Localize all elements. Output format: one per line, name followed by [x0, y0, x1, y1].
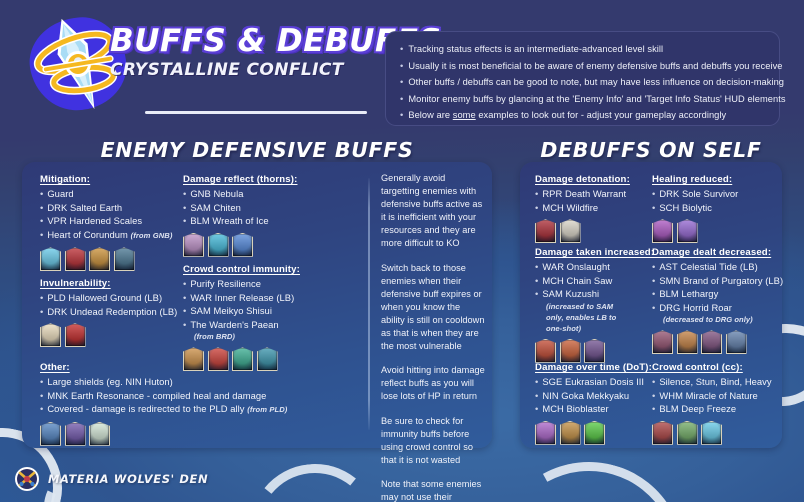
- list-item: Covered - damage is redirected to the PL…: [40, 402, 287, 417]
- group-cc-immunity: Crowd control immunity: Purify Resilienc…: [183, 264, 300, 371]
- ability-icon: [183, 347, 204, 371]
- item-text: DRG Horrid Roar: [659, 302, 732, 313]
- ability-icon: [65, 323, 86, 347]
- list-item: DRK Sole Survivor: [652, 187, 738, 201]
- list-item: Silence, Stun, Bind, Heavy: [652, 375, 772, 389]
- group-list: DRK Sole Survivor SCH Biolytic: [652, 187, 738, 214]
- group-other: Other: Large shields (eg. NIN Huton) MNK…: [40, 362, 287, 446]
- group-list: PLD Hallowed Ground (LB) DRK Undead Rede…: [40, 291, 177, 318]
- ability-icon: [40, 422, 61, 446]
- ability-icon: [560, 421, 581, 445]
- list-item: BLM Deep Freeze: [652, 402, 772, 416]
- ability-icon: [652, 421, 673, 445]
- ability-icon-row: [40, 422, 287, 446]
- item-note: (from PLD): [247, 405, 287, 414]
- intro-notes-box: Tracking status effects is an intermedia…: [385, 31, 780, 126]
- note-emphasis: some: [453, 110, 476, 120]
- item-text: SGE Eukrasian Dosis III: [542, 376, 644, 387]
- ability-icon: [183, 233, 204, 257]
- ability-icon-row: [40, 323, 177, 347]
- list-item: MCH Bioblaster: [535, 402, 652, 416]
- ability-icon: [584, 339, 605, 363]
- item-text: DRK Salted Earth: [47, 202, 122, 213]
- item-text: Large shields (eg. NIN Huton): [47, 376, 172, 387]
- item-text: Guard: [47, 188, 73, 199]
- ability-icon-row: [535, 219, 630, 243]
- item-text: BLM Wreath of Ice: [190, 215, 268, 226]
- list-item: BLM Wreath of Ice: [183, 214, 297, 228]
- list-item: DRG Horrid Roar: [652, 301, 783, 315]
- item-text: WAR Inner Release (LB): [190, 292, 294, 303]
- list-item: SAM Kuzushi: [535, 287, 654, 301]
- infographic-canvas: BUFFS & DEBUFFS CRYSTALLINE CONFLICT Tra…: [0, 0, 804, 502]
- ability-icon-row: [652, 421, 772, 445]
- list-item: BLM Lethargy: [652, 287, 783, 301]
- footer-watermark: MATERIA WOLVES' DEN: [14, 466, 208, 492]
- item-text: WHM Miracle of Nature: [659, 390, 757, 401]
- ability-icon: [232, 347, 253, 371]
- list-item: SGE Eukrasian Dosis III: [535, 375, 652, 389]
- list-item: RPR Death Warrant: [535, 187, 630, 201]
- list-item: AST Celestial Tide (LB): [652, 260, 783, 274]
- list-item: WAR Inner Release (LB): [183, 291, 300, 305]
- item-text: The Warden's Paean: [190, 319, 278, 330]
- advice-paragraph: Avoid hitting into damage reflect buffs …: [381, 364, 485, 403]
- ability-icon: [114, 247, 135, 271]
- item-text: Purify Resilience: [190, 278, 261, 289]
- group-list: Silence, Stun, Bind, Heavy WHM Miracle o…: [652, 375, 772, 416]
- group-crowd-control: Crowd control (cc): Silence, Stun, Bind,…: [652, 362, 772, 445]
- title-block: BUFFS & DEBUFFS CRYSTALLINE CONFLICT: [110, 26, 400, 80]
- note-prefix: Below are: [408, 110, 452, 120]
- group-list: Guard DRK Salted Earth VPR Hardened Scal…: [40, 187, 173, 242]
- item-text: Silence, Stun, Bind, Heavy: [659, 376, 771, 387]
- list-item: WAR Onslaught: [535, 260, 654, 274]
- item-text: MCH Bioblaster: [542, 403, 608, 414]
- ability-icon: [726, 330, 747, 354]
- group-title: Crowd control immunity:: [183, 264, 300, 275]
- ability-icon: [40, 323, 61, 347]
- left-panel-banner: ENEMY DEFENSIVE BUFFS: [22, 138, 492, 162]
- advice-paragraph: Generally avoid targetting enemies with …: [381, 172, 485, 251]
- ability-icon: [208, 233, 229, 257]
- wolf-crest-icon: [14, 466, 40, 492]
- group-title: Mitigation:: [40, 174, 173, 185]
- ability-icon: [65, 422, 86, 446]
- ability-icon-row: [535, 421, 652, 445]
- list-item: Heart of Corundum (from GNB): [40, 228, 173, 243]
- ability-icon: [560, 219, 581, 243]
- footer-brand: MATERIA WOLVES' DEN: [48, 472, 208, 486]
- item-text: SAM Kuzushi: [542, 288, 599, 299]
- wave-decoration: [471, 439, 706, 502]
- item-text: DRK Sole Survivor: [659, 188, 738, 199]
- ability-icon-row: [652, 219, 738, 243]
- list-item: DRK Salted Earth: [40, 201, 173, 215]
- ability-icon: [701, 421, 722, 445]
- right-panel-banner: DEBUFFS ON SELF: [520, 138, 782, 162]
- group-title: Damage over time (DoT):: [535, 362, 652, 373]
- list-item: VPR Hardened Scales: [40, 214, 173, 228]
- ability-icon: [40, 247, 61, 271]
- item-text: Covered - damage is redirected to the PL…: [47, 403, 244, 414]
- ability-icon-row: [183, 347, 300, 371]
- item-text: DRK Undead Redemption (LB): [47, 306, 177, 317]
- group-damage-reflect: Damage reflect (thorns): GNB Nebula SAM …: [183, 174, 297, 257]
- item-text: BLM Lethargy: [659, 288, 718, 299]
- ability-icon: [677, 421, 698, 445]
- item-text: MNK Earth Resonance - compiled heal and …: [47, 390, 266, 401]
- group-list: AST Celestial Tide (LB) SMN Brand of Pur…: [652, 260, 783, 325]
- list-item: SAM Meikyo Shisui: [183, 304, 300, 318]
- item-text: SAM Meikyo Shisui: [190, 305, 272, 316]
- group-damage-dealt-decreased: Damage dealt decreased: AST Celestial Ti…: [652, 247, 783, 354]
- list-item: SMN Brand of Purgatory (LB): [652, 274, 783, 288]
- list-item: DRK Undead Redemption (LB): [40, 305, 177, 319]
- list-item: GNB Nebula: [183, 187, 297, 201]
- list-item: The Warden's Paean: [183, 318, 300, 332]
- group-title: Damage dealt decreased:: [652, 247, 783, 258]
- ability-icon: [89, 422, 110, 446]
- list-item: Guard: [40, 187, 173, 201]
- list-item: MCH Chain Saw: [535, 274, 654, 288]
- group-damage-detonation: Damage detonation: RPR Death Warrant MCH…: [535, 174, 630, 243]
- list-item: Usually it is most beneficial to be awar…: [400, 58, 767, 75]
- item-text: MCH Wildfire: [542, 202, 598, 213]
- group-title: Damage taken increased:: [535, 247, 654, 258]
- ability-icon-row: [535, 339, 654, 363]
- ability-icon-row: [652, 330, 783, 354]
- item-text: GNB Nebula: [190, 188, 243, 199]
- ability-icon: [677, 219, 698, 243]
- page-title: BUFFS & DEBUFFS: [110, 26, 400, 57]
- list-item: Large shields (eg. NIN Huton): [40, 375, 287, 389]
- ability-icon: [560, 339, 581, 363]
- item-text: WAR Onslaught: [542, 261, 610, 272]
- page-subtitle: CRYSTALLINE CONFLICT: [110, 60, 400, 80]
- group-healing-reduced: Healing reduced: DRK Sole Survivor SCH B…: [652, 174, 738, 243]
- ability-icon: [652, 330, 673, 354]
- note-suffix: examples to look out for - adjust your g…: [476, 110, 727, 120]
- ability-icon: [208, 347, 229, 371]
- header: BUFFS & DEBUFFS CRYSTALLINE CONFLICT Tra…: [0, 0, 804, 130]
- ability-icon: [584, 421, 605, 445]
- item-note: (increased to SAM only, enables LB to on…: [535, 301, 631, 334]
- advice-paragraph: Be sure to check for immunity buffs befo…: [381, 415, 485, 467]
- group-damage-over-time: Damage over time (DoT): SGE Eukrasian Do…: [535, 362, 652, 445]
- item-text: AST Celestial Tide (LB): [659, 261, 757, 272]
- group-list: WAR Onslaught MCH Chain Saw SAM Kuzushi …: [535, 260, 654, 334]
- item-text: RPR Death Warrant: [542, 188, 626, 199]
- group-invulnerability: Invulnerability: PLD Hallowed Ground (LB…: [40, 278, 177, 347]
- list-item: Other buffs / debuffs can be good to not…: [400, 74, 767, 91]
- item-note: (from GNB): [131, 231, 173, 240]
- group-list: RPR Death Warrant MCH Wildfire: [535, 187, 630, 214]
- group-mitigation: Mitigation: Guard DRK Salted Earth VPR H…: [40, 174, 173, 271]
- ability-icon: [89, 247, 110, 271]
- group-title: Damage reflect (thorns):: [183, 174, 297, 185]
- group-list: SGE Eukrasian Dosis III NIN Goka Mekkyak…: [535, 375, 652, 416]
- list-item: PLD Hallowed Ground (LB): [40, 291, 177, 305]
- list-item: WHM Miracle of Nature: [652, 389, 772, 403]
- advice-column: Generally avoid targetting enemies with …: [381, 172, 485, 502]
- list-item: SCH Biolytic: [652, 201, 738, 215]
- item-text: NIN Goka Mekkyaku: [542, 390, 629, 401]
- list-item: MCH Wildfire: [535, 201, 630, 215]
- ability-icon: [535, 421, 556, 445]
- group-title: Crowd control (cc):: [652, 362, 772, 373]
- advice-paragraph: Note that some enemies may not use their…: [381, 478, 485, 502]
- list-item: MNK Earth Resonance - compiled heal and …: [40, 389, 287, 403]
- advice-paragraph: Switch back to those enemies when their …: [381, 262, 485, 354]
- wave-decoration: [244, 458, 387, 502]
- list-item: NIN Goka Mekkyaku: [535, 389, 652, 403]
- group-title: Invulnerability:: [40, 278, 177, 289]
- item-text: SMN Brand of Purgatory (LB): [659, 275, 783, 286]
- item-text: Heart of Corundum: [47, 229, 128, 240]
- ability-icon-row: [183, 233, 297, 257]
- item-text: SAM Chiten: [190, 202, 241, 213]
- group-title: Damage detonation:: [535, 174, 630, 185]
- list-item: Tracking status effects is an intermedia…: [400, 41, 767, 58]
- ability-icon: [535, 219, 556, 243]
- panel-divider: [368, 178, 370, 430]
- item-note: (from BRD): [183, 331, 300, 342]
- item-note: (decreased to DRG only): [652, 314, 783, 325]
- item-text: PLD Hallowed Ground (LB): [47, 292, 162, 303]
- group-list: GNB Nebula SAM Chiten BLM Wreath of Ice: [183, 187, 297, 228]
- ability-icon: [65, 247, 86, 271]
- intro-notes-list: Tracking status effects is an intermedia…: [400, 41, 767, 124]
- ability-icon-row: [40, 247, 173, 271]
- ability-icon: [677, 330, 698, 354]
- ability-icon: [232, 233, 253, 257]
- ability-icon: [701, 330, 722, 354]
- list-item: Purify Resilience: [183, 277, 300, 291]
- list-item: Below are some examples to look out for …: [400, 107, 767, 124]
- item-text: BLM Deep Freeze: [659, 403, 736, 414]
- group-list: Large shields (eg. NIN Huton) MNK Earth …: [40, 375, 287, 417]
- ability-icon: [257, 347, 278, 371]
- ability-icon: [652, 219, 673, 243]
- item-text: MCH Chain Saw: [542, 275, 612, 286]
- list-item: Monitor enemy buffs by glancing at the '…: [400, 91, 767, 108]
- group-title: Healing reduced:: [652, 174, 738, 185]
- item-text: VPR Hardened Scales: [47, 215, 142, 226]
- ability-icon: [535, 339, 556, 363]
- title-underline: [145, 111, 367, 114]
- list-item: SAM Chiten: [183, 201, 297, 215]
- group-damage-taken-increased: Damage taken increased: WAR Onslaught MC…: [535, 247, 654, 363]
- item-text: SCH Biolytic: [659, 202, 712, 213]
- group-list: Purify Resilience WAR Inner Release (LB)…: [183, 277, 300, 342]
